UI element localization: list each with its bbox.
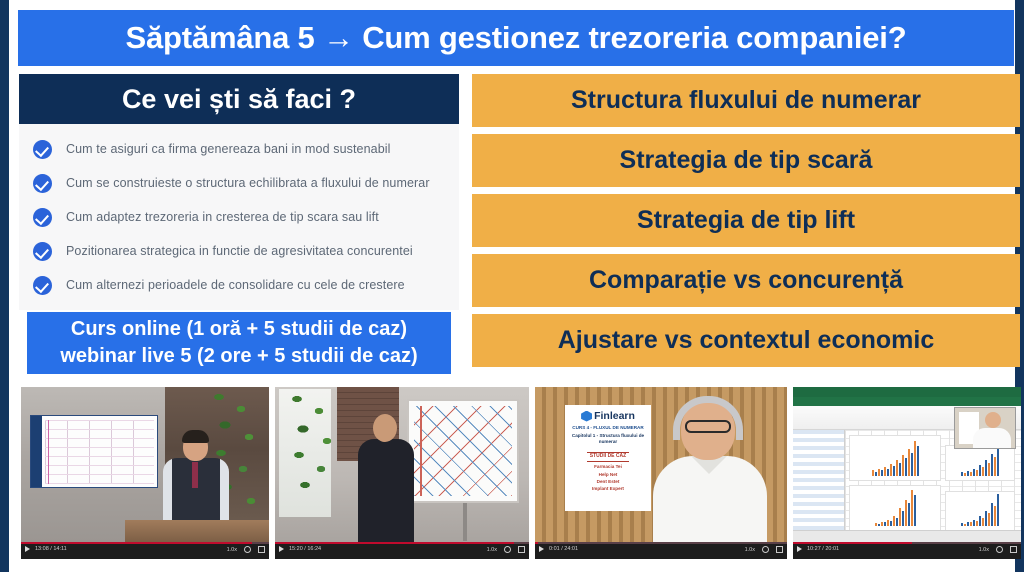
case-item: Dent Estet [569,479,647,484]
list-item: Cum adaptez trezoreria in cresterea de t… [19,200,459,234]
left-panel-heading-bar: Ce vei ști să faci ? [19,74,459,124]
player-left-controls: 15:20 / 16:24 [279,546,321,552]
flipchart-stand [463,503,467,541]
list-item: Cum se construieste o structura echilibr… [19,166,459,200]
fullscreen-icon[interactable] [518,546,525,553]
progress-fill [275,542,514,544]
excel-title-bar [793,387,1021,397]
case-item: Help Net [569,472,647,477]
benefits-checklist: Cum te asiguri ca firma genereaza bani i… [19,124,459,310]
player-right-controls: 1.0x [227,546,265,553]
list-item-label: Cum te asiguri ca firma genereaza bani i… [66,142,391,156]
case-item: Farmacia Tei [569,464,647,469]
topic-item-3[interactable]: Strategia de tip lift [472,194,1020,247]
case-item: Implant Expert [569,486,647,491]
video-thumbnail-strip: 13:08 / 14:11 1.0x [21,387,1021,559]
play-icon[interactable] [25,546,30,552]
playback-speed-label[interactable]: 1.0x [487,547,497,553]
video-flipchart-presenter[interactable]: 15:20 / 16:24 1.0x [275,387,529,559]
video-player-bar[interactable]: 13:08 / 14:11 1.0x [21,542,269,559]
list-item-label: Cum alternezi perioadele de consolidare … [66,278,405,292]
player-right-controls: 1.0x [487,546,525,553]
gear-icon[interactable] [504,546,511,553]
presentation-slide [30,415,158,488]
slide-course-title: CURS 4 - FLUXUL DE NUMERAR [569,425,647,430]
headset-icon [673,396,743,440]
excel-chart [849,485,941,531]
fullscreen-icon[interactable] [258,546,265,553]
video-slide-presenter[interactable]: 13:08 / 14:11 1.0x [21,387,269,559]
flipchart-drawing [414,406,512,496]
topic-label: Comparație vs concurență [589,266,903,295]
presenter-figure [651,394,769,542]
list-item: Cum te asiguri ca firma genereaza bani i… [19,132,459,166]
excel-data-table [793,430,845,530]
topics-panel: Structura fluxului de numerar Strategia … [472,74,1020,367]
topic-item-4[interactable]: Comparație vs concurență [472,254,1020,307]
slide-chapter-title: Capitolul 1 - Structura fluxului de nume… [569,433,647,444]
topic-item-5[interactable]: Ajustare vs contextul economic [472,314,1020,367]
time-display: 10:27 / 20:01 [807,546,839,552]
topic-item-1[interactable]: Structura fluxului de numerar [472,74,1020,127]
list-item: Pozitionarea strategica in functie de ag… [19,234,459,268]
player-left-controls: 13:08 / 14:11 [25,546,67,552]
time-display: 13:08 / 14:11 [35,546,67,552]
player-left-controls: 0:01 / 24:01 [539,546,578,552]
video-frame: Finlearn CURS 4 - FLUXUL DE NUMERAR Capi… [535,387,787,542]
topic-label: Ajustare vs contextul economic [558,326,935,355]
header-banner: Săptămâna 5 → Cum gestionez trezoreria c… [18,10,1014,66]
list-item-label: Cum adaptez trezoreria in cresterea de t… [66,210,379,224]
check-circle-icon [33,276,52,295]
check-circle-icon [33,242,52,261]
brand-name: Finlearn [594,410,635,422]
video-frame [21,387,269,542]
check-circle-icon [33,174,52,193]
cta-banner[interactable]: Curs online (1 oră + 5 studii de caz) we… [27,312,451,374]
webcam-overlay [954,407,1016,449]
cta-line-2: webinar live 5 (2 ore + 5 studii de caz) [60,343,417,370]
list-item: Cum alternezi perioadele de consolidare … [19,268,459,302]
video-frame [275,387,529,542]
fullscreen-icon[interactable] [1010,546,1017,553]
excel-chart [849,435,941,481]
player-left-controls: 10:27 / 20:01 [797,546,839,552]
time-display: 15:20 / 16:24 [289,546,321,552]
finlearn-slide: Finlearn CURS 4 - FLUXUL DE NUMERAR Capi… [565,405,651,511]
presenter-figure [157,432,235,524]
progress-fill [21,542,252,544]
progress-fill [535,542,538,544]
video-frame [793,387,1021,542]
overlay-presenter-head [985,412,1001,428]
fullscreen-icon[interactable] [776,546,783,553]
playback-speed-label[interactable]: 1.0x [979,547,989,553]
check-circle-icon [33,140,52,159]
gear-icon[interactable] [762,546,769,553]
gear-icon[interactable] [996,546,1003,553]
progress-track[interactable] [793,542,1021,544]
presenter-head [373,414,397,442]
slide-canvas: Săptămâna 5 → Cum gestionez trezoreria c… [0,0,1024,572]
presenter-figure [353,414,419,542]
topic-label: Strategia de tip scară [620,146,873,175]
play-icon[interactable] [797,546,802,552]
excel-status-bar [793,530,1021,542]
flipchart-board [407,399,519,503]
video-player-bar[interactable]: 0:01 / 24:01 1.0x [535,542,787,559]
left-panel-heading: Ce vei ști să faci ? [122,84,356,115]
left-panel: Ce vei ști să faci ? Cum te asiguri ca f… [19,74,459,310]
cta-line-1: Curs online (1 oră + 5 studii de caz) [71,316,407,343]
plant-decor [287,389,361,509]
slide-brand-spine [31,416,42,487]
excel-ribbon-tabs [793,397,1021,406]
overlay-presenter-body [973,428,1011,448]
excel-chart [945,491,1015,531]
play-icon[interactable] [539,546,544,552]
page-title: Săptămâna 5 → Cum gestionez trezoreria c… [126,20,907,56]
video-player-bar[interactable]: 10:27 / 20:01 1.0x [793,542,1021,559]
list-item-label: Cum se construieste o structura echilibr… [66,176,430,190]
slide-section-title: STUDII DE CAZ [587,452,629,462]
gear-icon[interactable] [244,546,251,553]
presenter-tie [192,462,198,488]
playback-speed-label[interactable]: 1.0x [227,547,237,553]
progress-track[interactable] [21,542,269,544]
list-item-label: Pozitionarea strategica in functie de ag… [66,244,413,258]
progress-track[interactable] [275,542,529,544]
check-circle-icon [33,208,52,227]
slide-diagram [45,420,154,484]
player-right-controls: 1.0x [745,546,783,553]
topic-label: Strategia de tip lift [637,206,855,235]
finlearn-logo: Finlearn [569,410,647,422]
player-right-controls: 1.0x [979,546,1017,553]
play-icon[interactable] [279,546,284,552]
progress-track[interactable] [535,542,787,544]
topic-item-2[interactable]: Strategia de tip scară [472,134,1020,187]
presenter-hair [182,430,209,443]
playback-speed-label[interactable]: 1.0x [745,547,755,553]
progress-fill [793,542,912,544]
excel-chart [945,445,1015,481]
time-display: 0:01 / 24:01 [549,546,578,552]
video-player-bar[interactable]: 15:20 / 16:24 1.0x [275,542,529,559]
topic-label: Structura fluxului de numerar [571,86,921,115]
video-webcam-finlearn-slide[interactable]: Finlearn CURS 4 - FLUXUL DE NUMERAR Capi… [535,387,787,559]
cube-icon [581,411,592,422]
video-excel-charts[interactable]: 10:27 / 20:01 1.0x [793,387,1021,559]
presenter-body [358,439,414,542]
